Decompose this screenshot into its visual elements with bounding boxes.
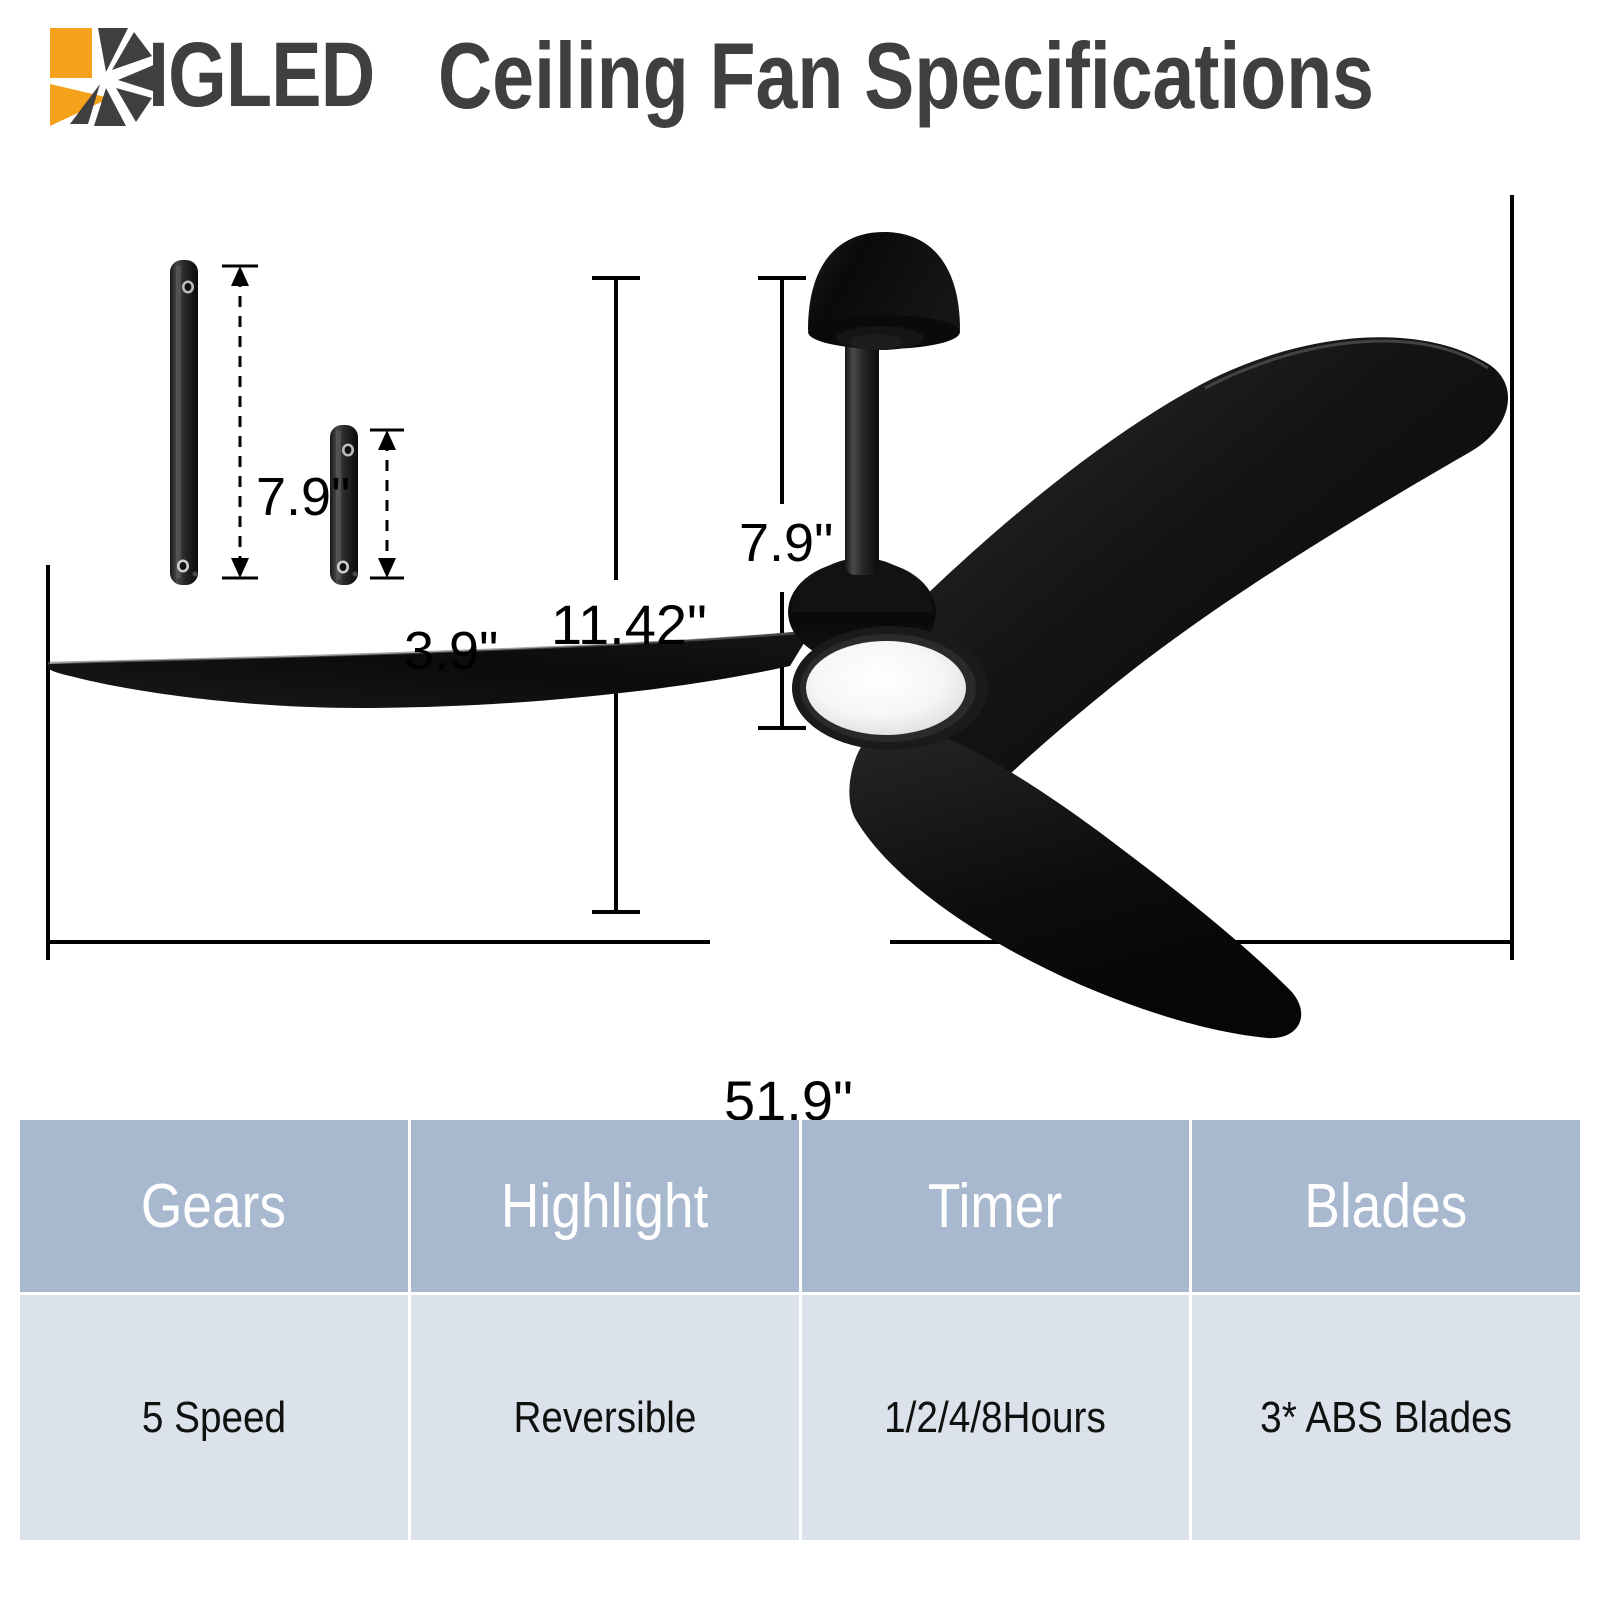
- product-diagram: 7.9" 3.9" 11.42" 7.9" 51.9": [0, 160, 1600, 1060]
- table-header-row: Gears Highlight Timer Blades: [20, 1120, 1580, 1292]
- dimension-downrod-short: [370, 430, 404, 578]
- page-title: Ceiling Fan Specifications: [438, 22, 1374, 130]
- table-header-gears: Gears: [20, 1120, 408, 1292]
- table-value-timer: 1/2/4/8Hours: [802, 1295, 1190, 1540]
- table-header-timer: Timer: [802, 1120, 1190, 1292]
- value-label-blades: 3* ABS Blades: [1260, 1393, 1512, 1443]
- ceiling-fan-assembly: [47, 232, 1508, 1038]
- page-header: IGLED Ceiling Fan Specifications: [0, 0, 1600, 160]
- table-header-highlight: Highlight: [411, 1120, 799, 1292]
- label-downrod-long: 7.9": [256, 466, 350, 528]
- table-header-blades: Blades: [1192, 1120, 1580, 1292]
- dimension-downrod-long: [222, 266, 258, 578]
- header-label-timer: Timer: [928, 1171, 1062, 1242]
- specifications-table: Gears Highlight Timer Blades 5 Speed Rev…: [20, 1120, 1580, 1540]
- label-total-height: 11.42": [551, 592, 707, 657]
- value-label-gears: 5 Speed: [142, 1393, 286, 1443]
- downrod-long: [170, 260, 198, 585]
- header-label-highlight: Highlight: [501, 1171, 708, 1242]
- installed-downrod: [845, 335, 879, 575]
- label-downrod-short: 3.9": [404, 620, 498, 682]
- header-label-blades: Blades: [1305, 1171, 1468, 1242]
- label-hanging-height: 7.9": [739, 512, 833, 574]
- table-value-gears: 5 Speed: [20, 1295, 408, 1540]
- fan-blade-lower-right: [849, 720, 1301, 1038]
- led-light-diffuser: [792, 626, 988, 750]
- table-value-row: 5 Speed Reversible 1/2/4/8Hours 3* ABS B…: [20, 1295, 1580, 1540]
- table-value-highlight: Reversible: [411, 1295, 799, 1540]
- value-label-highlight: Reversible: [513, 1393, 696, 1443]
- value-label-timer: 1/2/4/8Hours: [885, 1393, 1107, 1443]
- table-value-blades: 3* ABS Blades: [1192, 1295, 1580, 1540]
- brand-name: IGLED: [148, 22, 374, 128]
- aperture-logo-icon: [48, 26, 158, 128]
- header-label-gears: Gears: [141, 1171, 286, 1242]
- ceiling-canopy: [808, 232, 960, 350]
